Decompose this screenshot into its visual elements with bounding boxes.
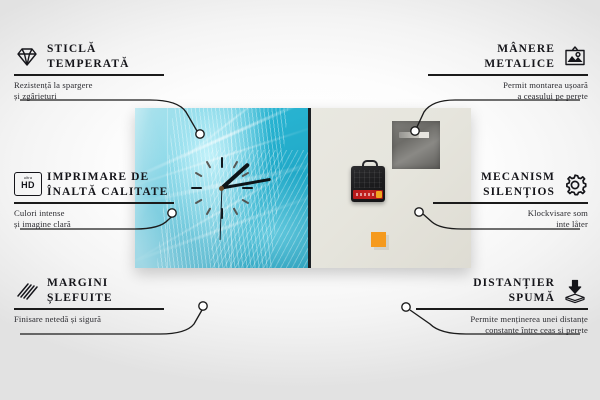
callout-header: ultra HD IMPRIMARE DEÎNALTĂ CALITATE [14, 170, 174, 199]
callout-header: MÂNEREMETALICE [428, 42, 588, 71]
callout-header: MARGINIȘLEFUITE [14, 276, 164, 305]
callout-subtitle: Klockvisare sominte låter [433, 208, 588, 232]
infographic-canvas: STICLĂTEMPERATĂ Rezistență la spargereși… [0, 0, 600, 400]
callout-divider [428, 74, 588, 75]
ultra-hd-icon: ultra HD [14, 172, 40, 198]
callout-title: IMPRIMARE DEÎNALTĂ CALITATE [47, 170, 168, 199]
callout-title: MÂNEREMETALICE [484, 42, 555, 71]
callout-subtitle: Culori intenseși imagine clară [14, 208, 174, 232]
callout-hd-print: ultra HD IMPRIMARE DEÎNALTĂ CALITATE Cul… [14, 170, 174, 231]
connector-dot-hooks [411, 127, 419, 135]
connector-dot-edges [199, 302, 207, 310]
callout-subtitle: Permit montarea ușoarăa ceasului pe pere… [428, 80, 588, 104]
connector-hooks [417, 100, 580, 127]
callout-divider [433, 202, 588, 203]
callout-divider [14, 202, 174, 203]
connector-glass [20, 100, 197, 131]
callout-metal-hooks: MÂNEREMETALICE Permit montarea ușoarăa c… [428, 42, 588, 103]
callout-divider [14, 308, 164, 309]
callout-title: STICLĂTEMPERATĂ [47, 42, 130, 71]
callout-title: DISTANȚIERSPUMĂ [473, 276, 555, 305]
callout-tempered-glass: STICLĂTEMPERATĂ Rezistență la spargereși… [14, 42, 164, 103]
callout-divider [416, 308, 588, 309]
callout-title: MARGINIȘLEFUITE [47, 276, 113, 305]
polished-edges-icon [14, 278, 40, 304]
connector-dot-glass [196, 130, 204, 138]
foam-spacer-arrow-icon [562, 278, 588, 304]
callout-foam-spacer: DISTANȚIERSPUMĂ Permite menținerea unei … [416, 276, 588, 337]
callout-polished-edges: MARGINIȘLEFUITE Finisare netedă și sigur… [14, 276, 164, 325]
diamond-icon [14, 44, 40, 70]
picture-hanger-icon [562, 44, 588, 70]
callout-header: STICLĂTEMPERATĂ [14, 42, 164, 71]
connector-dot-foam [402, 303, 410, 311]
callout-subtitle: Rezistență la spargereși zgârieturi [14, 80, 164, 104]
callout-title: MECANISMSILENȚIOS [481, 170, 555, 199]
callout-header: MECANISMSILENȚIOS [433, 170, 588, 199]
callout-divider [14, 74, 164, 75]
callout-subtitle: Permite menținerea unei distanțeconstant… [416, 314, 588, 338]
callout-silent-mechanism: MECANISMSILENȚIOS Klockvisare sominte lå… [433, 170, 588, 231]
connector-dot-mechanism [415, 208, 423, 216]
gear-icon [562, 172, 588, 198]
callout-subtitle: Finisare netedă și sigură [14, 314, 164, 326]
callout-header: DISTANȚIERSPUMĂ [416, 276, 588, 305]
